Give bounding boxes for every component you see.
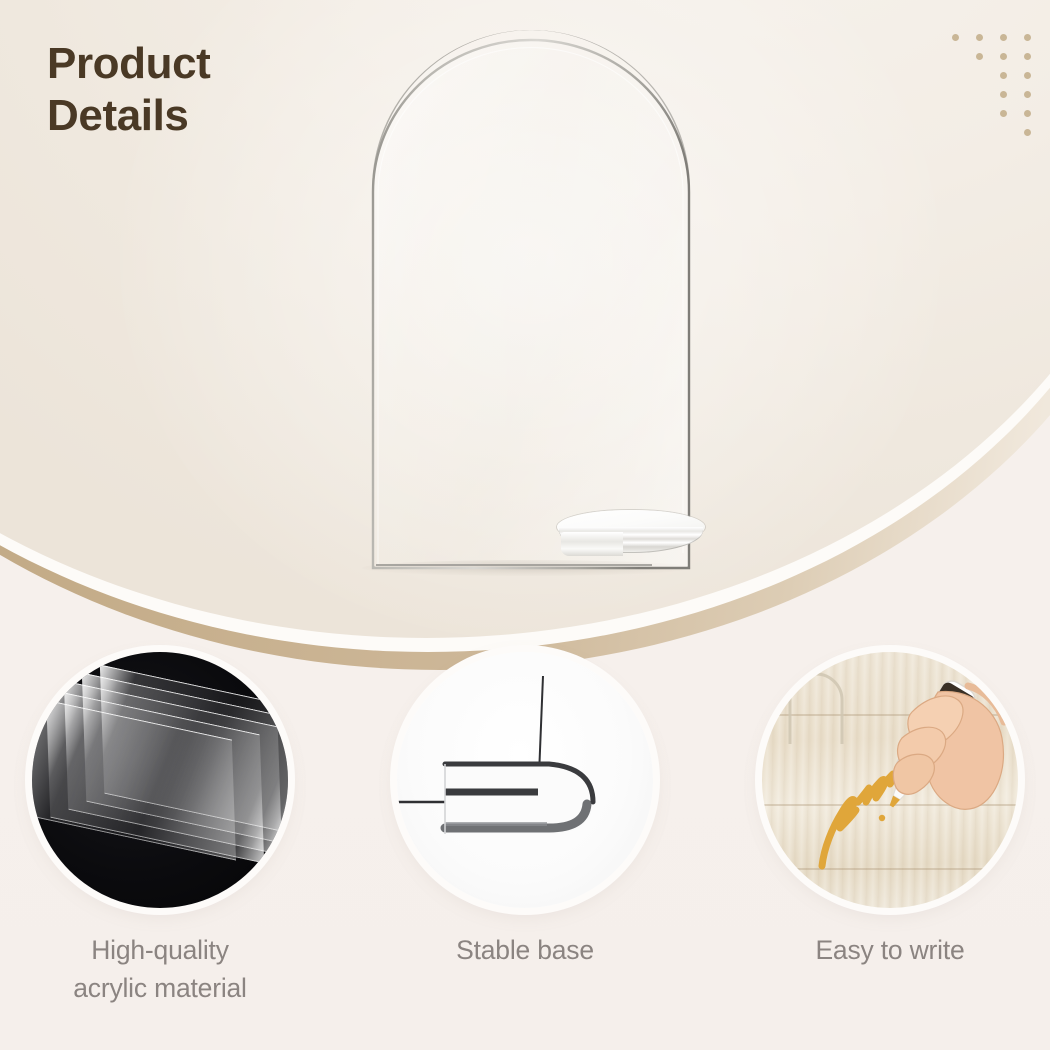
dot [976, 53, 983, 60]
dot [1024, 110, 1031, 117]
dot [976, 34, 983, 41]
dot [1024, 34, 1031, 41]
feature-high-quality-acrylic-material[interactable]: High-quality acrylic material [14, 652, 306, 1007]
dot [1024, 91, 1031, 98]
feature-image-acrylic-sheets [32, 652, 288, 908]
dot [1024, 53, 1031, 60]
dot-grid-decoration [936, 28, 1032, 140]
feature-caption: Stable base [379, 932, 671, 970]
dot [1024, 72, 1031, 79]
hand-with-marker-illustration [762, 652, 1018, 908]
product-details-infographic: Product Details [0, 0, 1050, 1050]
page-title: Product Details [47, 38, 377, 143]
base-front-tab [561, 532, 623, 556]
feature-easy-to-write[interactable]: Easy to write [744, 652, 1036, 970]
feature-caption: Easy to write [744, 932, 1036, 970]
arch-outline-icon [352, 24, 732, 584]
feature-stable-base[interactable]: Stable base [379, 652, 671, 970]
dot [1000, 110, 1007, 117]
dot [1024, 129, 1031, 136]
dot [952, 34, 959, 41]
feature-image-easy-to-write [762, 652, 1018, 908]
acrylic-arch-sign [352, 24, 732, 584]
dot [1000, 91, 1007, 98]
acrylic-base-puck [557, 510, 705, 562]
dot [1000, 53, 1007, 60]
dot [1000, 72, 1007, 79]
feature-image-stable-base [397, 652, 653, 908]
base-closeup-illustration [397, 652, 653, 908]
feature-caption: High-quality acrylic material [14, 932, 306, 1007]
dot [1000, 34, 1007, 41]
feature-list: High-quality acrylic material Stable bas… [0, 652, 1050, 1050]
